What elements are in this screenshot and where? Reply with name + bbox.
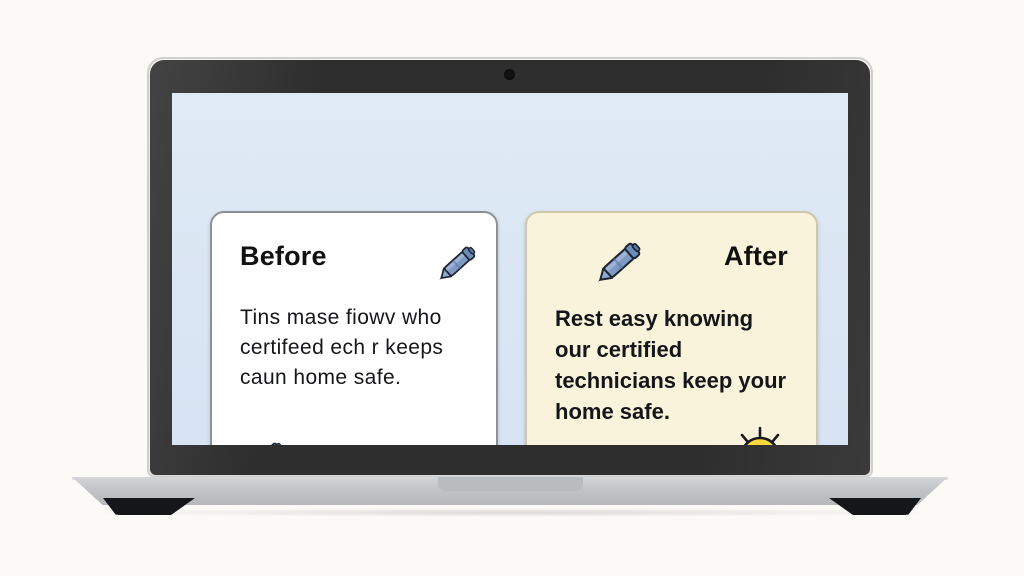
pen-icon [238, 431, 294, 445]
after-card[interactable]: After Rest easy knowing our certified te… [525, 211, 818, 445]
laptop-screen: Before Tins mase fiowv who certifeed ech… [172, 93, 848, 445]
lightbulb-icon [723, 421, 797, 445]
before-card-title: Before [240, 241, 327, 272]
base-shadow [90, 508, 935, 517]
before-card[interactable]: Before Tins mase fiowv who certifeed ech… [210, 211, 498, 445]
webcam-icon [504, 69, 515, 80]
after-card-body: Rest easy knowing our certified technici… [555, 303, 794, 427]
pen-icon [430, 235, 486, 296]
after-card-title: After [724, 241, 788, 272]
pen-icon [587, 229, 653, 300]
base-notch [438, 477, 583, 491]
illustration-scene: Before Tins mase fiowv who certifeed ech… [0, 0, 1024, 576]
before-card-body: Tins mase fiowv who certifeed ech r keep… [240, 303, 474, 393]
